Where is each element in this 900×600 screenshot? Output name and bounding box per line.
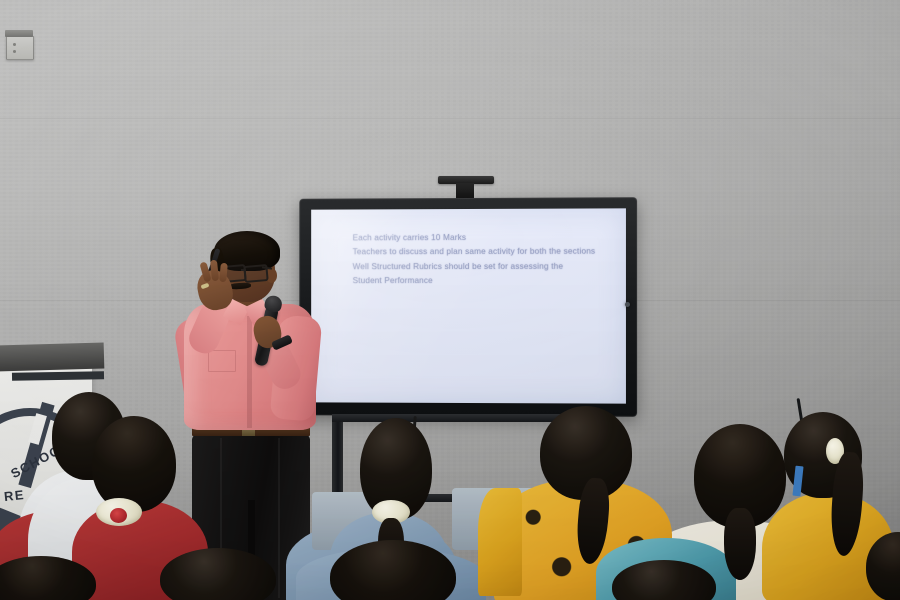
power-indicator-icon [625,302,630,307]
display-screen[interactable]: Each activity carries 10 Marks Teachers … [311,208,626,403]
trouser-crease [278,438,280,598]
interactive-display[interactable]: Each activity carries 10 Marks Teachers … [299,197,637,417]
shirt-pocket [208,350,236,372]
camera-mount [456,183,474,199]
saree-drape [478,488,522,596]
screen-glare [311,208,626,403]
banner-accent-bar [12,371,104,381]
socket-cap [5,30,33,37]
socket-screw [13,50,16,53]
rose-flower-icon [110,508,127,523]
photograph-scene: SCHOOL RE Each activity carries 10 Marks… [0,0,900,600]
wall-socket-icon [6,36,34,60]
shirt-placket [247,316,252,428]
attendee-jasmine-head [92,416,176,512]
banner-word-re: RE [3,487,25,504]
hair-ponytail [724,508,756,580]
banner-header-bar [0,342,104,371]
eyeglasses-bridge [241,269,246,271]
socket-screw [13,43,16,46]
